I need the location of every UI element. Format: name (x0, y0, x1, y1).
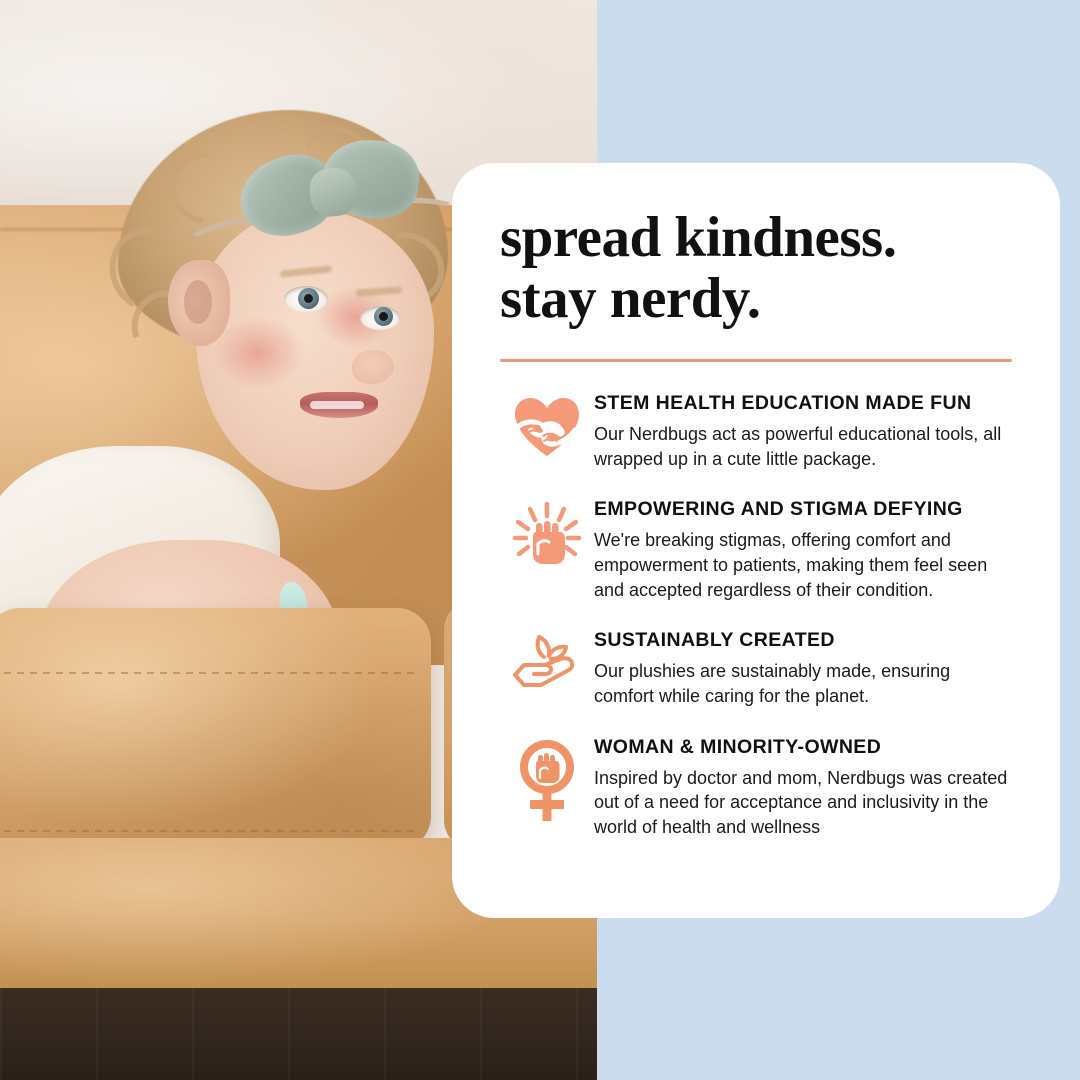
icon-slot (500, 629, 594, 693)
pupil (379, 312, 388, 321)
promo-graphic: spread kindness. stay nerdy. (0, 0, 1080, 1080)
feature-body: We're breaking stigmas, offering comfort… (594, 528, 1008, 602)
sofa-cushion-left (0, 608, 431, 850)
icon-slot (500, 736, 594, 824)
icon-slot (500, 498, 594, 572)
feature-item-woman-minority-owned: WOMAN & MINORITY-OWNED Inspired by docto… (500, 736, 1012, 840)
feature-text: WOMAN & MINORITY-OWNED Inspired by docto… (594, 736, 1012, 840)
feature-item-sustainably-created: SUSTAINABLY CREATED Our plushies are sus… (500, 629, 1012, 708)
feature-body: Our Nerdbugs act as powerful educational… (594, 422, 1008, 471)
feature-title: WOMAN & MINORITY-OWNED (594, 736, 1008, 759)
feature-text: EMPOWERING AND STIGMA DEFYING We're brea… (594, 498, 1012, 602)
heart-hug-icon (513, 396, 581, 458)
headline-line-1: spread kindness. (500, 206, 896, 269)
mouth (300, 392, 378, 418)
hand-leaf-icon (511, 633, 583, 693)
feature-title: EMPOWERING AND STIGMA DEFYING (594, 498, 1008, 521)
info-card: spread kindness. stay nerdy. (452, 163, 1060, 918)
pupil (304, 294, 313, 303)
feature-item-stem-health: STEM HEALTH EDUCATION MADE FUN Our Nerdb… (500, 392, 1012, 471)
icon-slot (500, 392, 594, 458)
feature-text: SUSTAINABLY CREATED Our plushies are sus… (594, 629, 1012, 708)
feature-title: SUSTAINABLY CREATED (594, 629, 1008, 652)
child-figure (0, 110, 470, 670)
feature-text: STEM HEALTH EDUCATION MADE FUN Our Nerdb… (594, 392, 1012, 471)
wood-floor (0, 988, 597, 1080)
bow-headband-icon (236, 134, 435, 249)
divider (500, 359, 1012, 362)
venus-fist-icon (516, 740, 578, 824)
feature-list: STEM HEALTH EDUCATION MADE FUN Our Nerdb… (500, 392, 1012, 840)
raised-fist-rays-icon (512, 502, 582, 572)
feature-body: Inspired by doctor and mom, Nerdbugs was… (594, 766, 1008, 840)
feature-body: Our plushies are sustainably made, ensur… (594, 659, 1008, 708)
cheek (212, 316, 304, 390)
feature-title: STEM HEALTH EDUCATION MADE FUN (594, 392, 1008, 415)
feature-item-empowering: EMPOWERING AND STIGMA DEFYING We're brea… (500, 498, 1012, 602)
cushion-stitching (4, 672, 414, 674)
headline-line-2: stay nerdy. (500, 267, 761, 330)
cushion-stitching (4, 830, 414, 832)
page-title: spread kindness. stay nerdy. (500, 207, 1012, 329)
